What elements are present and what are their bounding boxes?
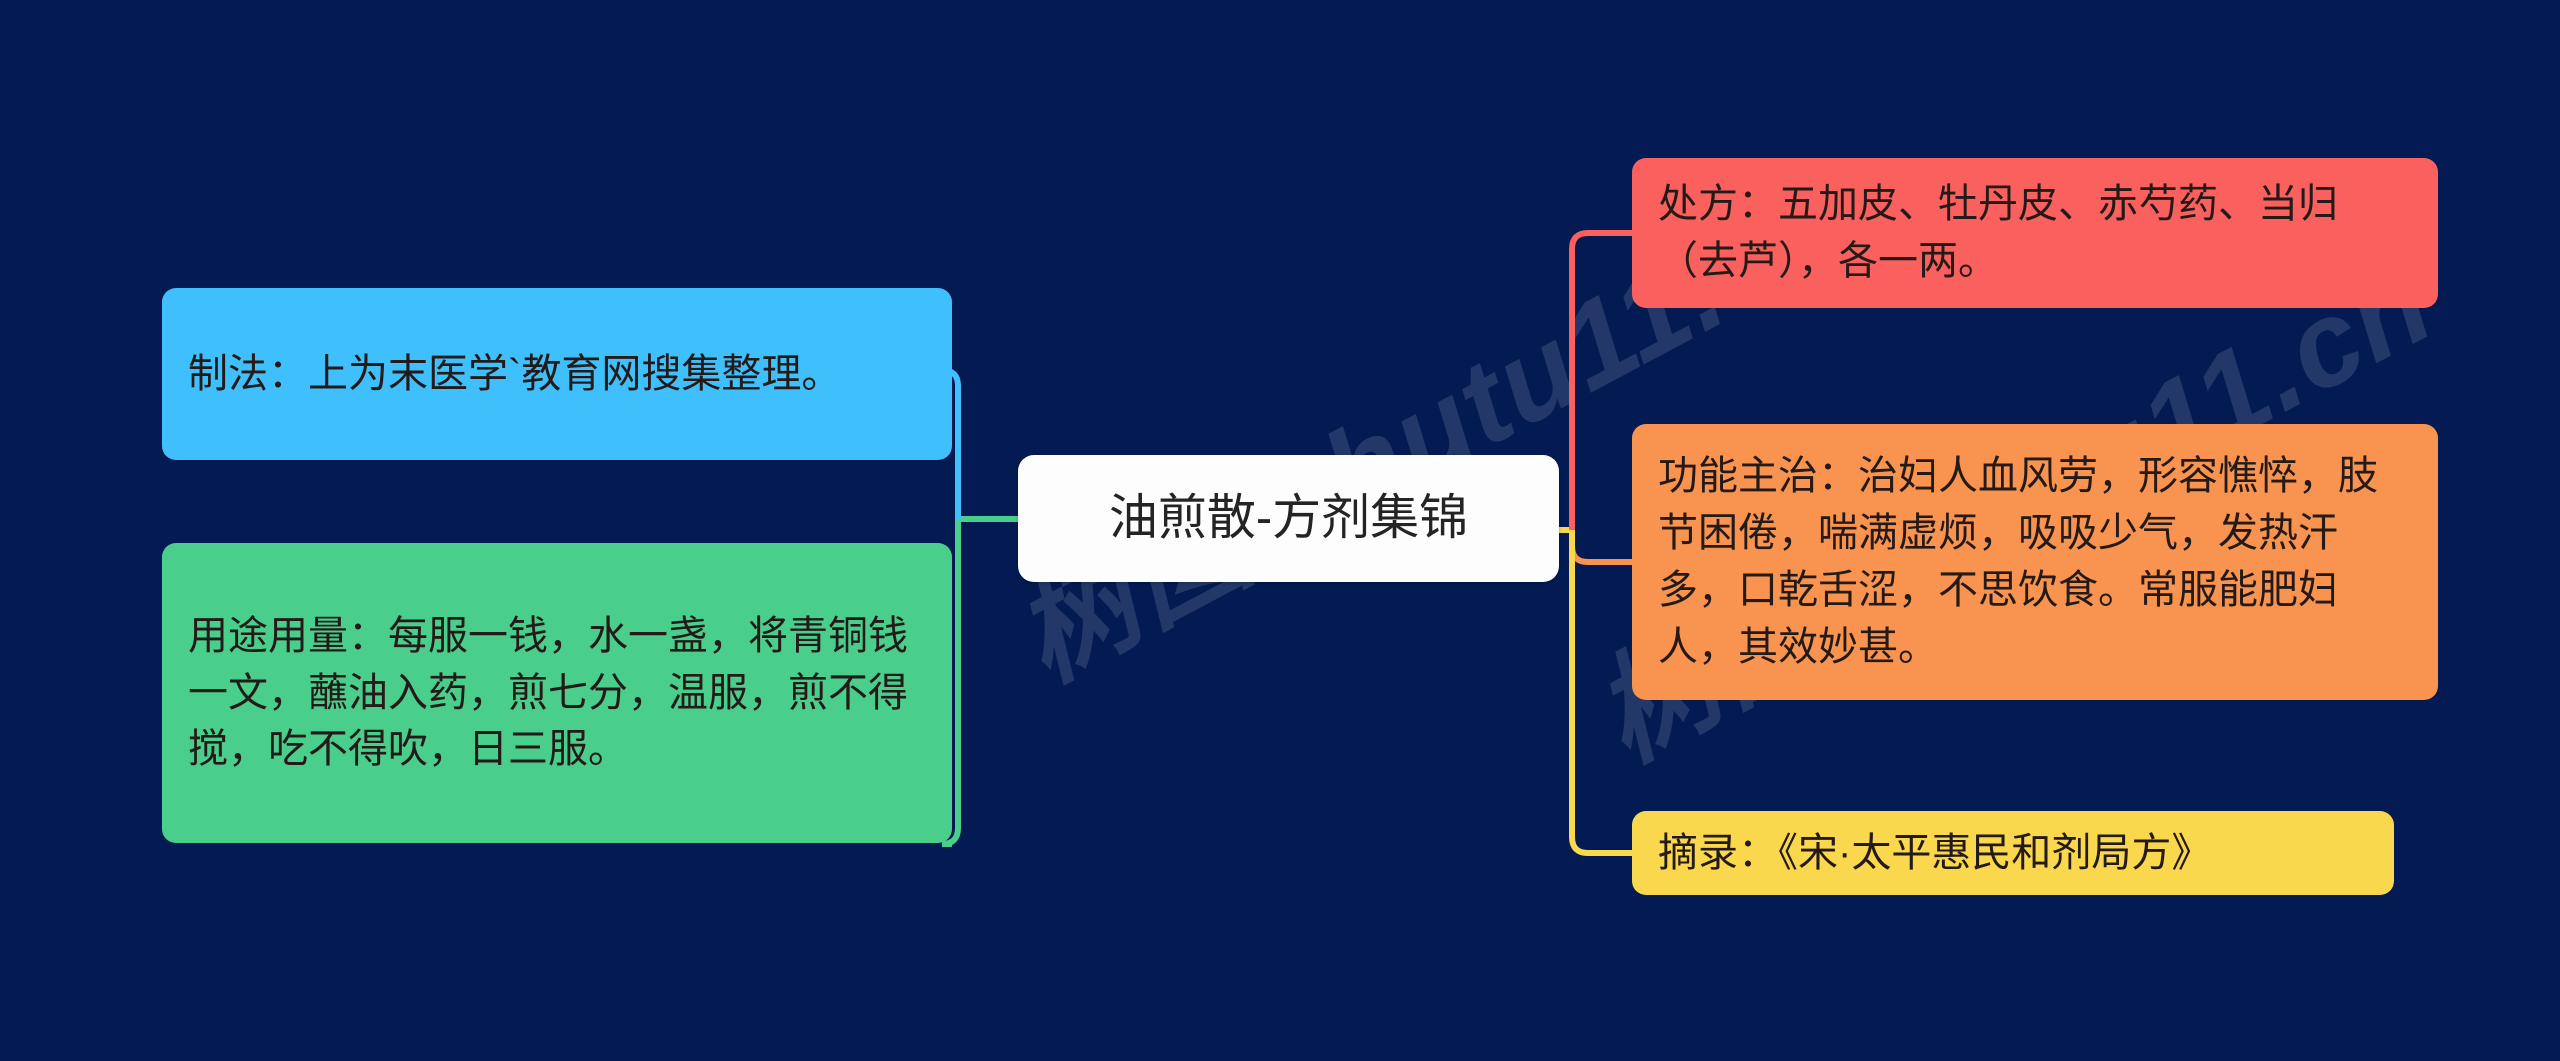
root-node-label: 油煎散-方剂集锦 xyxy=(1018,489,1559,548)
node-preparation-method-label: 制法：上为末医学`教育网搜集整理。 xyxy=(188,346,926,403)
node-source-excerpt-label: 摘录：《宋·太平惠民和剂局方》 xyxy=(1658,825,2368,882)
node-prescription-label: 处方：五加皮、牡丹皮、赤芍药、当归（去芦），各一两。 xyxy=(1658,176,2412,290)
node-preparation-method[interactable]: 制法：上为末医学`教育网搜集整理。 xyxy=(162,288,952,460)
link-gongneng xyxy=(1572,530,1632,562)
node-usage-dosage-label: 用途用量：每服一钱，水一盏，将青铜钱一文，蘸油入药，煎七分，温服，煎不得搅，吃不… xyxy=(188,608,926,778)
mindmap-canvas: 树图 shutu11.cn 树图 shutu11.cn 油煎散-方剂集锦 制法：… xyxy=(0,0,2560,1061)
node-indications-label: 功能主治：治妇人血风劳，形容憔悴，肢节困倦，喘满虚烦，吸吸少气，发热汗多，口乾舌… xyxy=(1658,448,2412,675)
root-node[interactable]: 油煎散-方剂集锦 xyxy=(1018,455,1559,582)
node-indications[interactable]: 功能主治：治妇人血风劳，形容憔悴，肢节困倦，喘满虚烦，吸吸少气，发热汗多，口乾舌… xyxy=(1632,424,2438,700)
node-usage-dosage[interactable]: 用途用量：每服一钱，水一盏，将青铜钱一文，蘸油入药，煎七分，温服，煎不得搅，吃不… xyxy=(162,543,952,843)
node-prescription[interactable]: 处方：五加皮、牡丹皮、赤芍药、当归（去芦），各一两。 xyxy=(1632,158,2438,308)
node-source-excerpt[interactable]: 摘录：《宋·太平惠民和剂局方》 xyxy=(1632,811,2394,895)
